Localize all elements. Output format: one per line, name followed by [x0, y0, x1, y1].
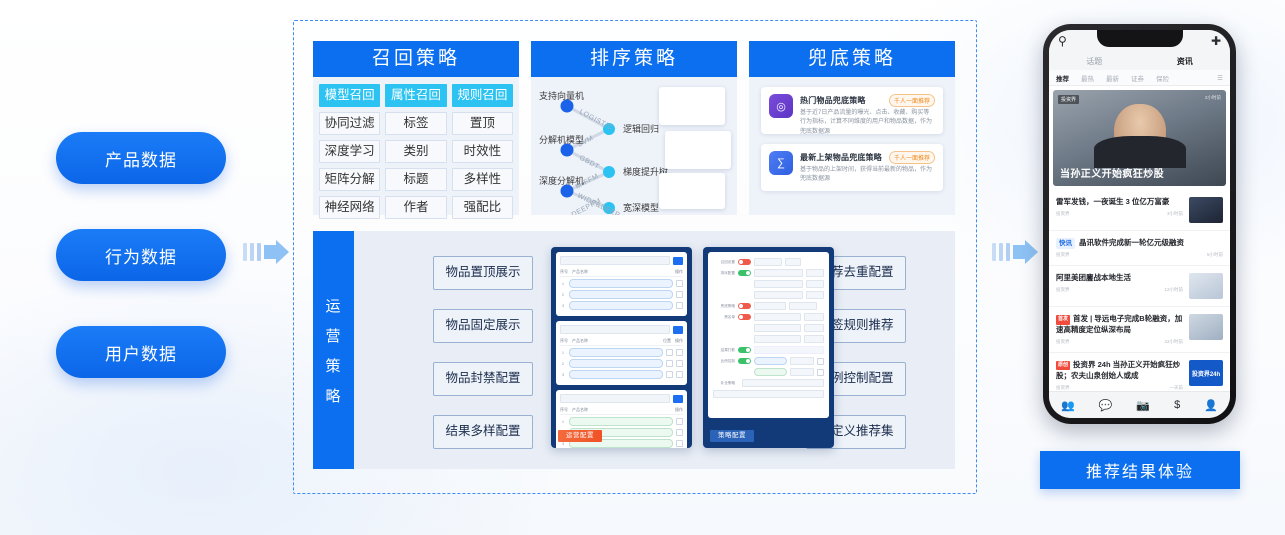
hamburger-menu-icon[interactable]: ☰ [1217, 74, 1223, 82]
data-source-label: 行为数据 [105, 243, 177, 268]
plus-icon[interactable]: ✚ [1211, 34, 1221, 48]
screenshot-caption-strategy: 策略配置 [710, 430, 754, 442]
rank-node-widedeep: 宽深模型 [623, 201, 659, 214]
news-title: 雷军发钱，一夜诞生 3 位亿万富豪 [1056, 197, 1183, 208]
search-icon[interactable] [673, 395, 683, 403]
form-row [713, 368, 824, 376]
table-row: 1 [560, 279, 683, 288]
form-row: 结果打散 [713, 346, 824, 354]
edge-label-logistic: LOGISTIC [578, 109, 614, 132]
profile-icon[interactable]: 👤 [1204, 399, 1218, 412]
list-item[interactable]: 首发首发 | 导远电子完成B轮融资，加速高精度定位纵深布局 投资界 22小时前 [1049, 307, 1230, 353]
form-row [713, 291, 824, 299]
news-title-text: 晶讯软件完成新一轮亿元级融资 [1079, 238, 1184, 247]
news-thumbnail [1189, 273, 1223, 299]
phone-caption: 推荐结果体验 [1040, 451, 1240, 489]
recall-table-header-row: 模型召回 属性召回 规则召回 [319, 84, 513, 107]
recall-cell[interactable]: 多样性 [452, 168, 513, 191]
search-icon[interactable] [673, 257, 683, 265]
table-row: 2 [560, 359, 683, 368]
search-input[interactable] [560, 325, 670, 334]
phone-screen: ⚲ ✚ 话题 资讯 推荐 最热 最新 证券 保险 ☰ 投资界 2小时前 当孙正义… [1049, 30, 1230, 418]
data-source-behavior[interactable]: 行为数据 [56, 229, 226, 281]
recall-column-rule[interactable]: 规则召回 [452, 84, 513, 107]
recall-cell[interactable]: 矩阵分解 [319, 168, 380, 191]
ops-char: 略 [325, 385, 341, 406]
news-source: 投资界 [1056, 211, 1070, 217]
news-title: 原创投资界 24h 当孙正义开始疯狂炒股；农夫山泉创始人或成 [1056, 360, 1183, 382]
ops-char: 运 [325, 295, 341, 316]
data-source-label: 产品数据 [105, 146, 177, 171]
recall-cell[interactable]: 时效性 [452, 140, 513, 163]
news-time: 3小时前 [1167, 211, 1183, 217]
news-meta: 投资界 5小时前 [1056, 252, 1223, 258]
op-button-diversity[interactable]: 结果多样配置 [433, 415, 533, 449]
news-title: 首发首发 | 导远电子完成B轮融资，加速高精度定位纵深布局 [1056, 314, 1183, 336]
search-icon[interactable] [673, 326, 683, 334]
edge-label-gbdt: GBDT [578, 155, 600, 171]
hero-portrait-suit [1094, 136, 1186, 168]
hero-headline: 当孙正义开始疯狂炒股 [1060, 165, 1164, 180]
subtab-latest[interactable]: 最新 [1106, 73, 1119, 83]
status-badge: 千人一面推荐 [889, 94, 935, 107]
news-title-text: 投资界 24h 当孙正义开始疯狂炒股；农夫山泉创始人或成 [1056, 360, 1180, 380]
phone-mockup: ⚲ ✚ 话题 资讯 推荐 最热 最新 证券 保险 ☰ 投资界 2小时前 当孙正义… [1043, 24, 1236, 424]
flow-arrow-right-icon [992, 243, 1013, 261]
recall-cell[interactable]: 类别 [385, 140, 446, 163]
table-row: 1 [560, 417, 683, 426]
recall-cell[interactable]: 强配比 [452, 196, 513, 219]
form-row: 黑名单 [713, 313, 824, 321]
recall-column-attribute[interactable]: 属性召回 [385, 84, 446, 107]
phone-subtab-bar: 推荐 最热 最新 证券 保险 ☰ [1049, 70, 1230, 86]
table-row: 1 [560, 348, 683, 357]
table-row: 2 [560, 290, 683, 299]
arrow-bars [992, 243, 1010, 261]
table-header: 序号产品名称操作 [560, 268, 683, 277]
rank-preview-card [665, 131, 731, 169]
rank-node-svm: 支持向量机 [539, 89, 584, 102]
recall-cell[interactable]: 神经网络 [319, 196, 380, 219]
compass-icon: ◎ [769, 94, 793, 118]
ops-config-screenshot[interactable]: 序号产品名称操作 1 2 3 序号产品名称位置操作 1 2 3 [551, 247, 692, 448]
ops-char: 营 [325, 325, 341, 346]
recall-column-model[interactable]: 模型召回 [319, 84, 380, 107]
phone-bottom-nav: 👥 💬 📷 $ 👤 [1049, 391, 1230, 418]
phone-notch [1097, 30, 1183, 47]
screenshot-caption-ops: 运营配置 [558, 430, 602, 442]
recall-cell[interactable]: 标题 [385, 168, 446, 191]
form-row: 比例控制 [713, 357, 824, 365]
form-row: 兜底策略 [713, 302, 824, 310]
subtab-insurance[interactable]: 保险 [1156, 73, 1169, 83]
table-header: 序号产品名称位置操作 [560, 337, 683, 346]
rank-preview-card [659, 87, 725, 125]
news-meta: 投资界 12小时前 [1056, 287, 1183, 293]
form-row: 补全策略 [713, 379, 824, 387]
chart-icon: ∑ [769, 151, 793, 175]
camera-icon[interactable]: 📷 [1136, 399, 1150, 412]
toggle-switch[interactable] [738, 314, 751, 320]
form-row [713, 390, 824, 398]
table-row: 3 [560, 301, 683, 310]
subtab-securities[interactable]: 证券 [1131, 73, 1144, 83]
recall-cell[interactable]: 深度学习 [319, 140, 380, 163]
rank-preview-card [659, 173, 725, 209]
list-item[interactable]: 雷军发钱，一夜诞生 3 位亿万富豪 投资界 3小时前 [1049, 190, 1230, 231]
news-title: 快讯晶讯软件完成新一轮亿元级融资 [1056, 238, 1223, 249]
group-icon[interactable]: 👥 [1061, 399, 1075, 412]
fallback-card-title: 最新上架物品兜底策略 [800, 152, 882, 163]
form-row [713, 324, 824, 332]
op-button-ban-item[interactable]: 物品封禁配置 [433, 362, 533, 396]
search-row [560, 394, 683, 403]
news-source: 投资界 [1056, 287, 1070, 293]
recall-cell[interactable]: 作者 [385, 196, 446, 219]
ranking-panel-title: 排序策略 [531, 41, 737, 77]
tab-news[interactable]: 资讯 [1177, 56, 1193, 67]
screenshot-sheet: 召回设置 排序配置 兜底策略 黑名单 结果打散 比例控制 补全策略 [708, 252, 829, 418]
recall-cell[interactable]: 置顶 [452, 112, 513, 135]
rank-node-lr: 逻辑回归 [623, 122, 659, 135]
table-row: 矩阵分解 标题 多样性 [319, 168, 513, 191]
list-item[interactable]: 快讯晶讯软件完成新一轮亿元级融资 投资界 5小时前 [1049, 231, 1230, 266]
toggle-switch[interactable] [738, 347, 751, 353]
news-thumbnail [1189, 314, 1223, 340]
news-flag-tag: 首发 [1056, 315, 1070, 324]
fallback-card-title: 热门物品兜底策略 [800, 95, 866, 106]
table-header: 序号产品名称操作 [560, 406, 683, 415]
news-meta: 投资界 3小时前 [1056, 211, 1183, 217]
chat-icon[interactable]: 💬 [1099, 399, 1113, 412]
rank-node-fm: 分解机模型 [539, 133, 584, 146]
operation-strategy-body: 物品置顶展示 物品固定展示 物品封禁配置 结果多样配置 推荐去重配置 标签规则推… [354, 231, 955, 469]
data-source-product[interactable]: 产品数据 [56, 132, 226, 184]
news-flag-tag: 原创 [1056, 361, 1070, 370]
recall-strategy-panel: 召回策略 模型召回 属性召回 规则召回 协同过滤 标签 置顶 深度学习 类别 时… [313, 41, 519, 215]
screenshot-sheet: 序号产品名称位置操作 1 2 3 [556, 321, 687, 385]
news-title: 阿里美团鏖战本地生活 [1056, 273, 1183, 284]
op-button-pin-item[interactable]: 物品置顶展示 [433, 256, 533, 290]
form-row: 召回设置 [713, 258, 824, 266]
ranking-strategy-panel: 排序策略 LOGISTIC SVM GBDT M-FFM WIDE&DEEP D… [531, 41, 737, 215]
news-source: 投资界 [1056, 339, 1070, 345]
strategy-config-screenshot[interactable]: 召回设置 排序配置 兜底策略 黑名单 结果打散 比例控制 补全策略 策略配置 [703, 247, 834, 448]
recall-panel-title: 召回策略 [313, 41, 519, 77]
fallback-strategy-panel: 兜底策略 ◎ 热门物品兜底策略 千人一面推荐 基于近7日产品流量的曝光、点击、收… [749, 41, 955, 215]
recall-cell[interactable]: 协同过滤 [319, 112, 380, 135]
hero-time: 2小时前 [1205, 95, 1221, 101]
search-row [560, 256, 683, 265]
subtab-recommend[interactable]: 推荐 [1056, 73, 1069, 83]
recall-table: 模型召回 属性召回 规则召回 协同过滤 标签 置顶 深度学习 类别 时效性 矩阵… [313, 77, 519, 219]
fallback-card-new-items[interactable]: ∑ 最新上架物品兜底策略 千人一面推荐 基于物品的上架时间，获得当前最新的物品，… [761, 144, 943, 191]
toggle-switch[interactable] [738, 358, 751, 364]
news-thumbnail: 投资界24h [1189, 360, 1223, 386]
news-time: 5小时前 [1207, 252, 1223, 258]
form-row [713, 335, 824, 343]
toggle-switch[interactable] [738, 270, 751, 276]
data-source-user[interactable]: 用户数据 [56, 326, 226, 378]
data-source-label: 用户数据 [105, 340, 177, 365]
news-title-text: 首发 | 导远电子完成B轮融资，加速高精度定位纵深布局 [1056, 314, 1182, 334]
money-icon[interactable]: $ [1174, 399, 1180, 411]
operation-strategy-panel: 运 营 策 略 物品置顶展示 物品固定展示 物品封禁配置 结果多样配置 推荐去重… [313, 231, 955, 469]
op-button-fixed-item[interactable]: 物品固定展示 [433, 309, 533, 343]
hero-ribbon: 投资界 [1058, 95, 1079, 104]
table-row: 3 [560, 370, 683, 379]
screenshot-sheet: 序号产品名称操作 1 2 3 [556, 252, 687, 316]
news-source: 投资界 [1056, 252, 1070, 258]
form-row [713, 280, 824, 288]
operation-strategy-sidebar-label: 运 营 策 略 [313, 231, 354, 469]
hero-article[interactable]: 投资界 2小时前 当孙正义开始疯狂炒股 [1053, 90, 1226, 186]
recall-cell[interactable]: 标签 [385, 112, 446, 135]
news-meta: 投资界 22小时前 [1056, 339, 1183, 345]
fallback-card-desc: 基于物品的上架时间，获得当前最新的物品，作为兜底数据源 [800, 166, 935, 185]
search-input[interactable] [560, 394, 670, 403]
ops-char: 策 [325, 355, 341, 376]
rank-node-deepfm: 深度分解机 [539, 174, 584, 187]
status-badge: 千人一面推荐 [889, 151, 935, 164]
subtab-hot[interactable]: 最热 [1081, 73, 1094, 83]
fallback-card-desc: 基于近7日产品流量的曝光、点击、收藏、购买等行为指标，计算不同维度的用户和物品数… [800, 109, 935, 137]
search-icon[interactable]: ⚲ [1058, 34, 1067, 48]
toggle-switch[interactable] [738, 303, 751, 309]
tab-topics[interactable]: 话题 [1086, 56, 1102, 67]
ranking-diagram: LOGISTIC SVM GBDT M-FFM WIDE&DEEP DEEPFM… [531, 77, 737, 215]
form-row: 排序配置 [713, 269, 824, 277]
news-time: 22小时前 [1164, 339, 1183, 345]
search-row [560, 325, 683, 334]
table-row: 协同过滤 标签 置顶 [319, 112, 513, 135]
news-flash-tag: 快讯 [1056, 238, 1075, 249]
arrow-bars [243, 243, 261, 261]
table-row: 深度学习 类别 时效性 [319, 140, 513, 163]
news-time: 12小时前 [1164, 287, 1183, 293]
flow-arrow-right-icon [243, 243, 264, 261]
search-input[interactable] [560, 256, 670, 265]
list-item[interactable]: 阿里美团鏖战本地生活 投资界 12小时前 [1049, 266, 1230, 307]
diagram-canvas: 产品数据 行为数据 用户数据 召回策略 模型召回 属性召回 规则召回 协同过滤 … [0, 0, 1285, 535]
news-thumbnail [1189, 197, 1223, 223]
fallback-panel-title: 兜底策略 [749, 41, 955, 77]
phone-tab-bar: 话题 资讯 [1049, 52, 1230, 70]
toggle-switch[interactable] [738, 259, 751, 265]
table-row: 神经网络 作者 强配比 [319, 196, 513, 219]
fallback-card-hot-items[interactable]: ◎ 热门物品兜底策略 千人一面推荐 基于近7日产品流量的曝光、点击、收藏、购买等… [761, 87, 943, 134]
